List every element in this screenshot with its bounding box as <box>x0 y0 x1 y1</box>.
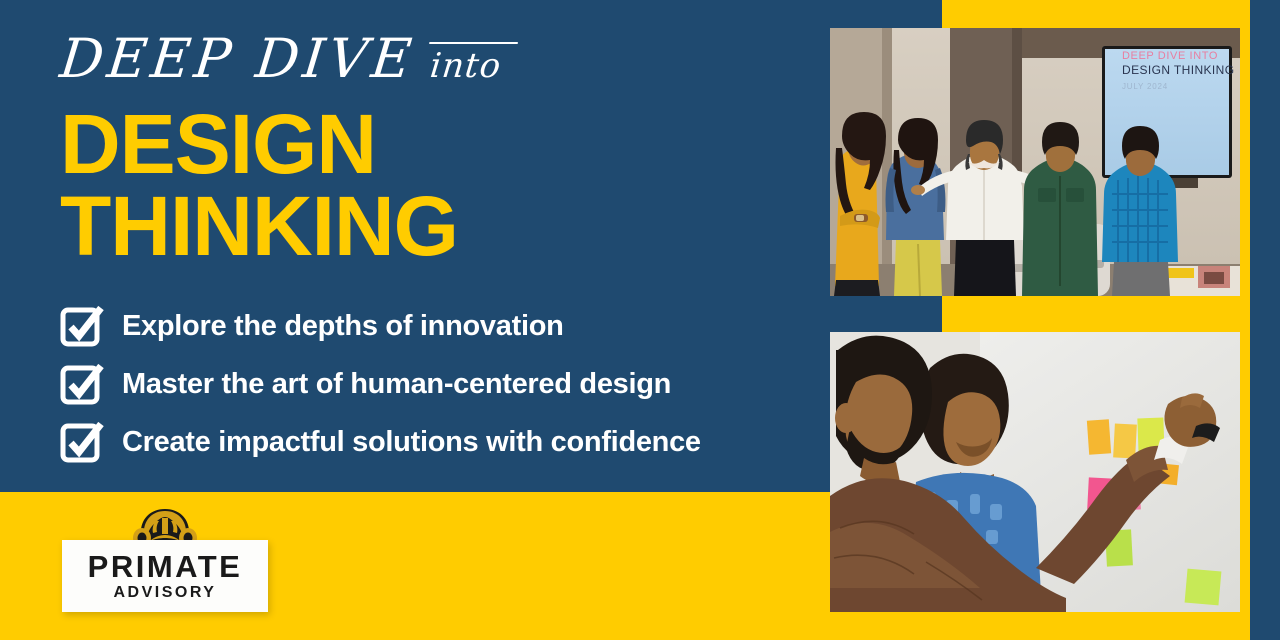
headline-line-thinking: THINKING <box>60 185 820 267</box>
checkbox-checked-icon <box>60 362 104 406</box>
background-navy-right-edge <box>1250 0 1280 640</box>
list-item: Master the art of human-centered design <box>60 356 820 412</box>
headline-script-into: into <box>422 46 509 86</box>
promo-banner: DEEP DIVEinto DESIGN THINKING Explore th… <box>0 0 1280 640</box>
headline-script-main: DEEP DIVE <box>57 27 418 90</box>
brand-logo: PRIMATE ADVISORY <box>62 508 268 612</box>
background-navy-photo-gap <box>830 296 942 332</box>
checkbox-checked-icon <box>60 420 104 464</box>
checkbox-checked-icon <box>60 304 104 348</box>
list-item-label: Create impactful solutions with confiden… <box>122 426 701 459</box>
logo-name: PRIMATE <box>88 551 243 583</box>
headline-line-design: DESIGN <box>60 103 820 185</box>
logo-subtitle: ADVISORY <box>114 584 217 601</box>
list-item: Create impactful solutions with confiden… <box>60 414 820 470</box>
list-item-label: Explore the depths of innovation <box>122 310 564 343</box>
logo-card: PRIMATE ADVISORY <box>62 540 268 612</box>
list-item: Explore the depths of innovation <box>60 298 820 354</box>
photo-sticky-notes-whiteboard <box>830 332 1240 612</box>
list-item-label: Master the art of human-centered design <box>122 368 671 401</box>
group-photo-workshop-team <box>830 28 1240 296</box>
benefits-list: Explore the depths of innovation Master … <box>60 298 820 472</box>
headline-script-line: DEEP DIVEinto <box>57 30 824 95</box>
headline-block: DEEP DIVEinto DESIGN THINKING <box>60 30 820 267</box>
